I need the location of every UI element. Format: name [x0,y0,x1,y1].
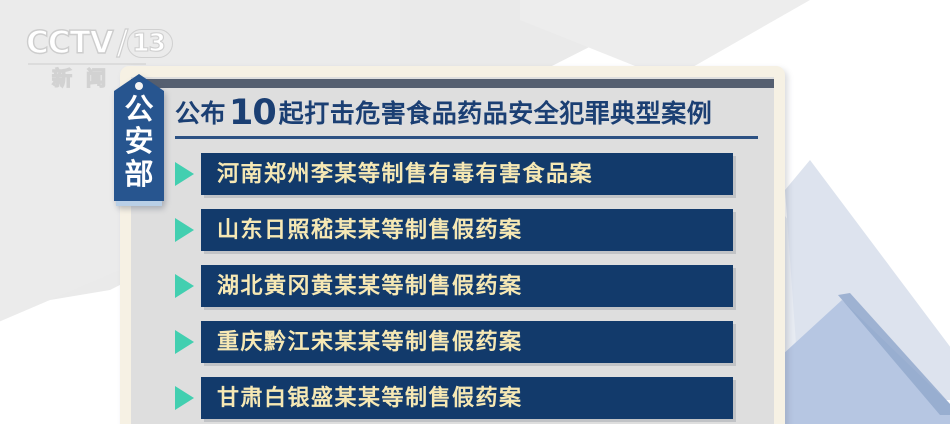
triangle-bullet-icon [175,386,194,410]
banner-char-2: 安 [114,126,164,158]
banner-char-1: 公 [114,94,164,126]
cctv-logo-rule [28,63,146,65]
triangle-bullet-icon [175,330,194,354]
case-label: 河南郑州李某等制售有毒有害食品案 [201,153,733,195]
list-item[interactable]: 河南郑州李某等制售有毒有害食品案 [175,153,773,195]
list-item[interactable]: 山东日照嵇某某等制售假药案 [175,209,773,251]
bg-shape-right-white [830,0,950,250]
panel-content: 公布 10 起打击危害食品药品安全犯罪典型案例 河南郑州李某等制售有毒有害食品案… [175,90,773,424]
bg-shape-right-streak [790,255,950,415]
case-label: 湖北黄冈黄某某等制售假药案 [201,265,733,307]
page-title: 公布 10 起打击危害食品药品安全犯罪典型案例 [175,90,773,129]
headline-divider [175,136,758,139]
case-list: 河南郑州李某等制售有毒有害食品案 山东日照嵇某某等制售假药案 湖北黄冈黄某某等制… [175,153,773,419]
banner-pennant-top-icon [114,74,164,91]
list-item[interactable]: 湖北黄冈黄某某等制售假药案 [175,265,773,307]
cctv-logo-slash: / [117,26,127,60]
bg-shape-right-pale [760,150,950,424]
case-label: 甘肃白银盛某某等制售假药案 [201,377,733,419]
triangle-bullet-icon [175,274,194,298]
list-item[interactable]: 重庆黔江宋某某等制售假药案 [175,321,773,363]
ministry-banner: 公 安 部 [114,74,164,206]
list-item[interactable]: 甘肃白银盛某某等制售假药案 [175,377,773,419]
cctv-logo-wordmark: CCTV / 13 [26,26,176,60]
panel-top-slate-bar [131,79,774,88]
bg-shape-right-blue [782,255,950,424]
case-label: 重庆黔江宋某某等制售假药案 [201,321,733,363]
cctv-logo-text: CCTV [26,28,113,59]
headline-prefix: 公布 [175,102,226,127]
bg-shape-right-blue-light [770,160,950,424]
banner-hole-dot-icon [135,82,143,90]
cctv-logo-channel-number: 13 [127,29,173,58]
banner-foot-accent [116,201,162,206]
banner-char-3: 部 [114,159,164,191]
headline-count: 10 [229,96,276,131]
headline-suffix: 起打击危害食品药品安全犯罪典型案例 [279,102,713,127]
banner-label: 公 安 部 [114,91,164,201]
content-panel: 公布 10 起打击危害食品药品安全犯罪典型案例 河南郑州李某等制售有毒有害食品案… [120,66,785,424]
triangle-bullet-icon [175,162,194,186]
news-graphic-stage: CCTV / 13 新闻 公布 10 起打击危害食品药品安全犯罪典型案例 河南郑… [0,0,950,424]
triangle-bullet-icon [175,218,194,242]
case-label: 山东日照嵇某某等制售假药案 [201,209,733,251]
